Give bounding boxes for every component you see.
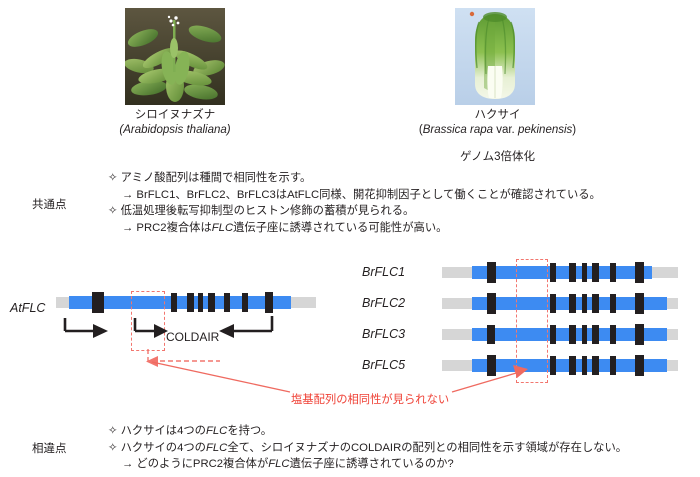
cabbage-caption: ハクサイ (Brassica rapa var. pekinensis): [385, 108, 610, 138]
atflc-exon-6: [224, 293, 230, 312]
common-points-label: 共通点: [32, 196, 67, 212]
brflc1-body-bar: [472, 266, 652, 279]
brflc5-exon-7: [635, 355, 644, 376]
brflc3-exon-3: [569, 325, 576, 344]
brflc2-exon-4: [582, 294, 587, 313]
coldair-label: COLDAIR: [166, 330, 219, 344]
common-line-2: → BrFLC1、BrFLC2、BrFLC3はAtFLC同様、開花抑制因子として…: [108, 187, 601, 204]
atflc-track: [56, 297, 316, 308]
brflc5-exon-3: [569, 356, 576, 375]
brflc3-gene-label: BrFLC3: [362, 327, 405, 341]
brflc5-exon-6: [610, 356, 616, 375]
brflc5-exon-4: [582, 356, 587, 375]
atflc-gene-label: AtFLC: [10, 301, 45, 315]
difference-line-2: ✧ ハクサイの4つのFLC全て、シロイヌナズナのCOLDAIRの配列との相同性を…: [108, 440, 627, 457]
arabidopsis-scientific-name: (Arabidopsis thaliana): [85, 123, 265, 138]
arabidopsis-photo: [125, 8, 225, 105]
brflc2-exon-5: [592, 294, 599, 313]
brflc2-gene-label: BrFLC2: [362, 296, 405, 310]
brflc3-track: [442, 329, 678, 340]
difference-line-1: ✧ ハクサイは4つのFLCを持つ。: [108, 423, 627, 440]
brflc1-track: [442, 267, 678, 278]
atflc-exon-4: [198, 293, 203, 312]
arabidopsis-common-name: シロイヌナズナ: [85, 108, 265, 123]
brflc5-track: [442, 360, 678, 371]
atflc-exon-2: [171, 293, 177, 312]
brflc5-exon-2: [550, 356, 556, 375]
common-line-4: → PRC2複合体はFLC遺伝子座に誘導されている可能性が高い。: [108, 220, 601, 237]
atflc-exon-3: [187, 293, 194, 312]
brflc1-exon-1: [487, 262, 496, 283]
common-points-list: ✧ アミノ酸配列は種間で相同性を示す。 → BrFLC1、BrFLC2、BrFL…: [108, 170, 601, 236]
atflc-exon-7: [242, 293, 248, 312]
genome-triplication-note: ゲノム3倍体化: [385, 148, 610, 164]
brflc-highlight-box: [516, 259, 548, 383]
atflc-exon-5: [208, 293, 215, 312]
cabbage-common-name: ハクサイ: [385, 108, 610, 123]
common-line-3: ✧ 低温処理後転写抑制型のヒストン修飾の蓄積が見られる。: [108, 203, 601, 220]
cabbage-scientific-name: (Brassica rapa var. pekinensis): [385, 123, 610, 138]
brflc2-exon-7: [635, 293, 644, 314]
brflc3-exon-6: [610, 325, 616, 344]
brflc1-exon-3: [569, 263, 576, 282]
red-annotation-note: 塩基配列の相同性が見られない: [291, 391, 449, 407]
brflc1-exon-6: [610, 263, 616, 282]
brflc2-exon-3: [569, 294, 576, 313]
brflc3-exon-2: [550, 325, 556, 344]
brflc1-exon-7: [635, 262, 644, 283]
atflc-exon-8: [265, 292, 273, 313]
atflc-coldair-highlight-box: [131, 291, 165, 351]
arabidopsis-caption: シロイヌナズナ (Arabidopsis thaliana): [85, 108, 265, 138]
brflc1-exon-4: [582, 263, 587, 282]
common-line-1: ✧ アミノ酸配列は種間で相同性を示す。: [108, 170, 601, 187]
brflc3-exon-7: [635, 324, 644, 345]
brflc1-exon-5: [592, 263, 599, 282]
brflc5-gene-label: BrFLC5: [362, 358, 405, 372]
difference-line-3: → どのようにPRC2複合体がFLC遺伝子座に誘導されているのか?: [108, 456, 627, 473]
brflc5-exon-1: [487, 355, 496, 376]
brflc3-exon-4: [582, 325, 587, 344]
atflc-exon-1: [92, 292, 104, 313]
brflc3-exon-1: [487, 325, 495, 344]
brflc2-exon-6: [610, 294, 616, 313]
brflc3-exon-5: [592, 325, 599, 344]
chinese-cabbage-photo: [455, 8, 535, 105]
brflc2-exon-1: [487, 293, 496, 314]
brflc5-exon-5: [592, 356, 599, 375]
difference-points-label: 相違点: [32, 440, 67, 456]
brflc2-exon-2: [550, 294, 556, 313]
brflc1-exon-2: [550, 263, 556, 282]
difference-points-list: ✧ ハクサイは4つのFLCを持つ。 ✧ ハクサイの4つのFLC全て、シロイヌナズ…: [108, 423, 627, 473]
brflc2-track: [442, 298, 678, 309]
brflc1-gene-label: BrFLC1: [362, 265, 405, 279]
